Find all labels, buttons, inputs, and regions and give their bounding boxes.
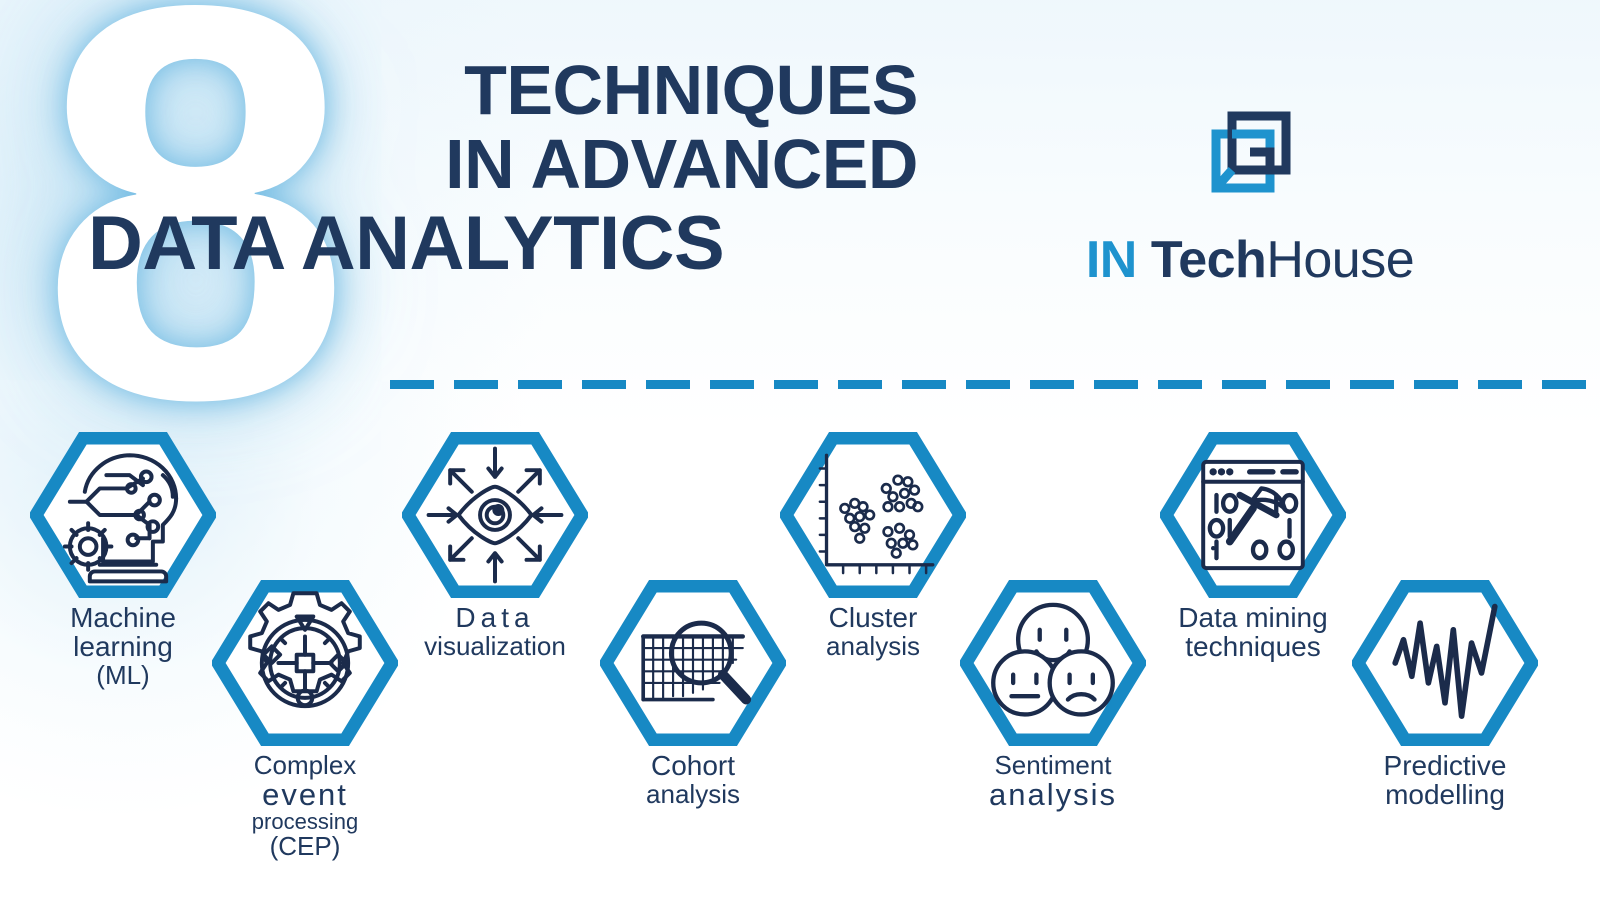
label-line: analysis	[578, 781, 808, 808]
label-line: (CEP)	[190, 833, 420, 860]
infographic-canvas: 8 TECHNIQUES IN ADVANCED DATA ANALYTICS …	[0, 0, 1600, 900]
title-line-2: IN ADVANCED	[338, 132, 918, 198]
title-line-1: TECHNIQUES	[338, 58, 918, 124]
logo-wordmark: IN TechHouse	[1030, 230, 1470, 290]
logo-word-in: IN	[1086, 231, 1137, 289]
technique-label: Cohort analysis	[578, 752, 808, 808]
hexagon-frame	[1352, 580, 1538, 746]
label-line: Predictive	[1330, 752, 1560, 781]
title-line-3: DATA ANALYTICS	[88, 208, 918, 279]
label-line: Sentiment	[938, 752, 1168, 779]
hexagon-frame	[960, 580, 1146, 746]
label-line: Cohort	[578, 752, 808, 781]
hexagon-frame	[1160, 432, 1346, 598]
data-visualization-eye-arrows-icon	[402, 432, 588, 598]
sentiment-analysis-faces-icon	[960, 580, 1146, 746]
hexagon-frame	[30, 432, 216, 598]
label-line: modelling	[1330, 781, 1560, 810]
logo-word-house: House	[1266, 231, 1414, 289]
label-line: visualization	[380, 633, 610, 660]
technique-label: Sentiment analysis	[938, 752, 1168, 811]
cluster-analysis-scatter-plot-icon	[780, 432, 966, 598]
label-line: Data	[380, 604, 610, 633]
data-mining-binary-pickaxe-icon	[1160, 432, 1346, 598]
technique-label: Data visualization	[380, 604, 610, 660]
technique-card-predictive-modelling[interactable]: Predictive modelling	[1330, 580, 1560, 810]
technique-label: Predictive modelling	[1330, 752, 1560, 810]
page-title: TECHNIQUES IN ADVANCED DATA ANALYTICS	[338, 58, 918, 279]
label-line: analysis	[938, 779, 1168, 811]
label-line: processing	[190, 811, 420, 834]
hexagon-frame	[402, 432, 588, 598]
label-line: event	[190, 779, 420, 811]
technique-label: Complex event processing (CEP)	[190, 752, 420, 860]
predictive-modelling-volatility-line-icon	[1352, 580, 1538, 746]
interlocking-squares-logo-icon	[1198, 100, 1302, 204]
logo-word-tech: Tech	[1151, 231, 1267, 289]
brand-logo: IN TechHouse	[1030, 100, 1470, 290]
technique-card-sentiment-analysis[interactable]: Sentiment analysis	[938, 580, 1168, 811]
hexagon-frame	[780, 432, 966, 598]
label-line: Complex	[190, 752, 420, 779]
technique-card-data-visualization[interactable]: Data visualization	[380, 432, 610, 660]
dashed-divider	[390, 380, 1600, 389]
machine-learning-head-circuit-gear-icon	[30, 432, 216, 598]
hexagon-frame	[212, 580, 398, 746]
complex-event-processing-gear-nodes-icon	[212, 580, 398, 746]
